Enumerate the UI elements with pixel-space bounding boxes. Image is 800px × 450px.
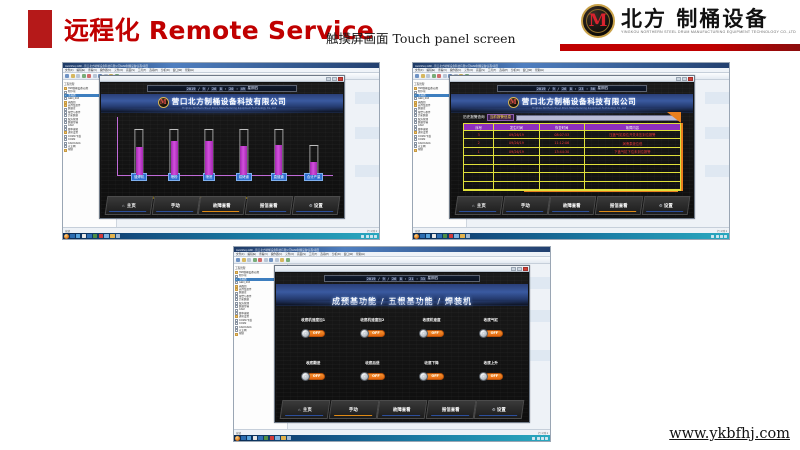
table-row[interactable]: 2 09/26/19 11:12:06 润滑泵液位低 [464, 139, 680, 147]
clock-year: 2019 [186, 87, 197, 91]
clock-day: 26 [561, 87, 567, 91]
nav-button-fault[interactable]: 故障查看 [548, 196, 596, 215]
hmi-window-switches: 2019/ 9/ 26 8: 21: 33 星期四 成预基功能 / 五根基功能 … [274, 265, 530, 423]
cell-index: 2 [464, 139, 494, 146]
taskbar-icon[interactable] [241, 436, 246, 441]
menu-item[interactable]: 窗口(W) [344, 252, 353, 256]
nav-button-home[interactable]: ⌂主页 [104, 196, 152, 215]
pc-title-text: AutoShop HMI - 营口北方制桶设备科技有限公司\HMI制桶设备\远程… [415, 64, 498, 68]
nav-button-alarm[interactable]: 报信查看 [595, 196, 643, 215]
switch-cell: 收底上升 OFF [479, 361, 504, 386]
toolbar-run-icon[interactable] [82, 74, 86, 78]
clock-second: 56 [590, 87, 596, 91]
nav-button-manual[interactable]: 手动 [501, 196, 549, 215]
hmi-logo-letter: M [510, 99, 517, 106]
taskbar-icon[interactable] [275, 436, 280, 441]
clock-month: 9 [202, 87, 206, 91]
pc-status-left: 就绪 [415, 229, 420, 233]
toolbar-copy-icon[interactable] [269, 258, 273, 262]
hmi-screen-title-banner: 成预基功能 / 五根基功能 / 焊装机 [276, 284, 528, 306]
hmi-window-titlebar [275, 266, 529, 272]
close-icon[interactable] [688, 77, 693, 81]
footer-website-url[interactable]: www.ykbfhj.com [669, 426, 790, 442]
clock-weekday: 星期四 [597, 86, 608, 91]
hmi-bottom-nav: ⌂主页 手动 故障查看 报信查看 ⚙设置 [281, 400, 523, 419]
header-divider [560, 44, 800, 51]
gear-icon: ⚙ [308, 203, 312, 208]
toolbar-stop-icon[interactable] [437, 74, 441, 78]
taskbar-tray[interactable] [532, 437, 550, 440]
nav-button-settings[interactable]: ⚙设置 [641, 196, 689, 215]
table-row[interactable]: 3 09/26/19 08:07:53 压盖气缸原位开关未压到位报警 [464, 131, 680, 139]
cell-recover-time: 08:07:53 [540, 131, 585, 138]
table-row[interactable] [464, 165, 680, 173]
close-icon[interactable] [523, 267, 528, 271]
alarm-filter-label: 历史报警查询 [463, 115, 485, 120]
cell-fault-text: 压盖气缸原位开关未压到位报警 [585, 131, 680, 138]
toolbar-undo-icon[interactable] [280, 258, 284, 262]
toggle-knob-icon [301, 372, 310, 381]
menu-item[interactable]: 文件(F) [415, 68, 424, 72]
menu-item[interactable]: 工具(T) [488, 68, 497, 72]
switch-label: 收底翻送 [301, 361, 326, 366]
nav-label: 设置 [664, 203, 673, 209]
nav-label: 手动 [171, 203, 180, 209]
start-button-icon[interactable] [235, 436, 240, 441]
hmi-banner-text: 营口北方制桶设备科技有限公司 Yingkou Northern Steel Dr… [172, 96, 287, 110]
home-icon: ⌂ [472, 203, 474, 208]
nav-label: 故障查看 [213, 203, 231, 209]
hmi-window-titlebar [450, 76, 694, 82]
toggle-knob-icon [479, 372, 488, 381]
taskbar-icon[interactable] [99, 234, 104, 239]
pc-title-text: AutoShop HMI - 营口北方制桶设备科技有限公司\HMI制桶设备\远程… [65, 64, 148, 68]
menu-item[interactable]: 编辑(E) [427, 68, 436, 72]
menu-item[interactable]: 选项(P) [149, 68, 158, 72]
nav-label: 主页 [476, 203, 485, 209]
toolbar-save-icon[interactable] [426, 74, 430, 78]
hmi-bottom-nav: ⌂主页 手动 故障查看 报信查看 ⚙设置 [456, 196, 688, 215]
table-row[interactable] [464, 156, 680, 164]
hmi-logo-icon: M [508, 97, 519, 108]
pc-status-left: 就绪 [236, 431, 241, 435]
minimize-icon[interactable] [676, 77, 681, 81]
nav-button-manual[interactable]: 手动 [151, 196, 199, 215]
nav-button-fault[interactable]: 故障查看 [377, 400, 427, 419]
toolbar-open-icon[interactable] [242, 258, 246, 262]
menu-item[interactable]: 文件(F) [65, 68, 74, 72]
pc-status-right: 行 1 列 1 [538, 431, 548, 435]
hmi-company-banner: M 营口北方制桶设备科技有限公司 Yingkou Northern Steel … [101, 94, 343, 113]
pc-status-right: 行 1 列 1 [367, 229, 377, 233]
toggle-switch[interactable]: OFF [360, 329, 385, 338]
clock-minute: 20 [228, 87, 234, 91]
nav-label: 报信查看 [442, 407, 460, 413]
menu-item[interactable]: 选项(P) [499, 68, 508, 72]
nav-label: 手动 [521, 203, 530, 209]
switch-label: 收底上升 [479, 361, 504, 366]
cell-recover-time: 13:44:30 [540, 148, 585, 155]
gear-icon: ⚙ [658, 203, 662, 208]
menu-item[interactable]: 帮助(H) [535, 68, 544, 72]
menu-item[interactable]: 画面(S) [297, 252, 306, 256]
switch-label: 收底气缸 [479, 318, 504, 323]
hmi-screen: 2019/ 9/ 26 8: 21: 33 星期四 成预基功能 / 五根基功能 … [276, 273, 528, 421]
toolbar-open-icon[interactable] [421, 74, 425, 78]
menu-item[interactable]: 窗口(W) [173, 68, 182, 72]
hmi-clock: 2019/ 9/ 26 8: 23: 56 星期四 [497, 85, 647, 92]
toggle-knob-icon [360, 329, 369, 338]
menu-item[interactable]: 操作器(C) [100, 68, 111, 72]
toolbar-new-icon[interactable] [415, 74, 419, 78]
taskbar-tray[interactable] [711, 235, 729, 238]
toolbar-stop-icon[interactable] [258, 258, 262, 262]
menu-item[interactable]: 操作器(C) [450, 68, 461, 72]
column-header: 序号 [464, 124, 494, 130]
taskbar-icon[interactable] [460, 234, 465, 239]
table-header-row: 序号 发生时间 恢复时间 故障内容 [464, 124, 680, 131]
screenshot-panel-table: AutoShop HMI - 营口北方制桶设备科技有限公司\HMI制桶设备\远程… [412, 62, 730, 240]
screenshot-panel-switches: AutoShop HMI - 营口北方制桶设备科技有限公司\HMI制桶设备\远程… [233, 246, 551, 442]
switch-cell: 收底翻送 OFF [301, 361, 326, 386]
hmi-company-banner: M 营口北方制桶设备科技有限公司 Yingkou Northern Steel … [451, 94, 693, 113]
toolbar-new-icon[interactable] [65, 74, 69, 78]
taskbar-icon[interactable] [443, 234, 448, 239]
logo-emblem-icon: M [581, 4, 615, 38]
taskbar-icon[interactable] [247, 436, 252, 441]
table-horizontal-scrollbar[interactable] [524, 191, 679, 193]
menu-item[interactable]: 文件(F) [236, 252, 245, 256]
clock-weekday: 星期四 [247, 86, 258, 91]
switch-label: 收底机速度加1 [301, 318, 326, 323]
clock-minute: 21 [408, 277, 414, 281]
title-accent-bar [28, 10, 52, 48]
table-row[interactable] [464, 182, 680, 190]
home-icon: ⌂ [298, 407, 300, 412]
nav-label: 故障查看 [563, 203, 581, 209]
hmi-logo-letter: M [160, 99, 167, 106]
menu-item[interactable]: 画面(S) [476, 68, 485, 72]
menu-item[interactable]: 工具(T) [309, 252, 318, 256]
toolbar-redo-icon[interactable] [286, 258, 290, 262]
pc-taskbar[interactable] [413, 233, 729, 239]
maximize-icon[interactable] [517, 267, 522, 271]
switch-label: 收底后退 [360, 361, 385, 366]
logo-emblem-letter: M [589, 13, 608, 30]
toggle-switch[interactable]: OFF [301, 329, 326, 338]
toolbar-stop-icon[interactable] [87, 74, 91, 78]
toggle-state: OFF [425, 330, 444, 337]
toolbar-cut-icon[interactable] [264, 258, 268, 262]
gear-icon: ⚙ [492, 407, 496, 412]
taskbar-icon[interactable] [426, 234, 431, 239]
nav-label: 设置 [498, 407, 507, 413]
alarm-filter-chip[interactable]: 当前报警信息 [487, 114, 515, 121]
menu-item[interactable]: 分析(D) [161, 68, 170, 72]
clock-hour: 8 [569, 87, 573, 91]
menu-item[interactable]: 元件(O) [114, 68, 123, 72]
alarm-history-table: 序号 发生时间 恢复时间 故障内容 3 09/26/19 08:07:53 压盖… [463, 123, 681, 191]
chart-y-axis [117, 117, 118, 175]
alarm-filter-select[interactable] [516, 115, 681, 121]
nav-label: 报信查看 [260, 203, 278, 209]
cell-occur-time: 09/26/19 [494, 131, 539, 138]
tree-item-label: 帮助 [418, 148, 423, 151]
taskbar-icon[interactable] [116, 234, 121, 239]
canvas-side-strip [705, 92, 729, 104]
clock-hour: 8 [399, 277, 403, 281]
toggle-knob-icon [301, 329, 310, 338]
canvas-side-strip [705, 127, 729, 139]
toolbar-cut-icon[interactable] [93, 74, 97, 78]
cell-index: 1 [464, 148, 494, 155]
toggle-knob-icon [479, 329, 488, 338]
menu-item[interactable]: 查看(V) [88, 68, 97, 72]
toggle-switch[interactable]: OFF [479, 372, 504, 381]
cell-index: 3 [464, 131, 494, 138]
toggle-knob-icon [360, 372, 369, 381]
logo-text-group: 北方 制桶设备 YINGKOU NORTHERN STEEL DRUM MANU… [621, 8, 796, 34]
switch-label: 收底机速度 [419, 318, 444, 323]
toggle-switch[interactable]: OFF [301, 372, 326, 381]
table-row[interactable]: 1 09/26/19 13:44:30 下盖气缸下位未到位报警 [464, 148, 680, 156]
maximize-icon[interactable] [332, 77, 337, 81]
toolbar-save-icon[interactable] [76, 74, 80, 78]
alarm-filter-row: 历史报警查询 当前报警信息 [463, 114, 681, 121]
toolbar-run-icon[interactable] [432, 74, 436, 78]
chart-category-labels: 缝焊机 喷粉 喷底 烘烤道 直缝道 合计产量 [122, 165, 331, 183]
production-bar-chart: 缝焊机 喷粉 喷底 烘烤道 直缝道 合计产量 [111, 115, 334, 191]
nav-label: 报信查看 [610, 203, 628, 209]
menu-item[interactable]: 帮助(H) [356, 252, 365, 256]
nav-label: 故障查看 [393, 407, 411, 413]
switch-label: 收底机速度加2 [360, 318, 385, 323]
clock-year: 2019 [366, 277, 377, 281]
maximize-icon[interactable] [682, 77, 687, 81]
table-row[interactable] [464, 173, 680, 181]
menu-item[interactable]: 操作器(C) [271, 252, 282, 256]
table-vertical-scrollbar[interactable] [681, 123, 683, 191]
pc-taskbar[interactable] [63, 233, 379, 239]
taskbar-icon[interactable] [437, 234, 442, 239]
switch-cell: 收底机速度 OFF [419, 318, 444, 343]
home-icon: ⌂ [122, 203, 124, 208]
clock-year: 2019 [536, 87, 547, 91]
clock-month: 9 [382, 277, 386, 281]
corner-marker-icon [667, 112, 681, 123]
switch-cell: 收底机速度加1 OFF [301, 318, 326, 343]
taskbar-icon[interactable] [270, 436, 275, 441]
nav-button-settings[interactable]: ⚙设置 [474, 400, 524, 419]
menu-item[interactable]: 帮助(H) [185, 68, 194, 72]
clock-minute: 23 [578, 87, 584, 91]
canvas-side-strip [355, 127, 379, 139]
nav-button-fault[interactable]: 故障查看 [198, 196, 246, 215]
menu-item[interactable]: 选项(P) [320, 252, 329, 256]
screen-title: 成预基功能 / 五根基功能 / 焊装机 [276, 296, 528, 307]
cell-fault-text: 润滑泵液位低 [585, 139, 680, 146]
taskbar-icon[interactable] [87, 234, 92, 239]
nav-button-manual[interactable]: 手动 [328, 400, 378, 419]
pc-status-right: 行 1 列 1 [717, 229, 727, 233]
hmi-screen: 2019/ 9/ 26 8: 23: 56 星期四 M 营口北方制桶设备科技有限… [451, 83, 693, 217]
taskbar-icon[interactable] [253, 436, 258, 441]
taskbar-icon[interactable] [454, 234, 459, 239]
clock-day: 26 [391, 277, 397, 281]
pc-taskbar[interactable] [234, 435, 550, 441]
clock-hour: 8 [219, 87, 223, 91]
column-header: 故障内容 [585, 124, 680, 130]
menu-item[interactable]: 元件(O) [285, 252, 294, 256]
toolbar-run-icon[interactable] [253, 258, 257, 262]
toggle-state: OFF [425, 373, 444, 380]
taskbar-icon[interactable] [449, 234, 454, 239]
toggle-switch[interactable]: OFF [419, 329, 444, 338]
manual-switch-grid: 收底机速度加1 OFF 收底机速度加2 OFF 收底机速度 OFF 收底气缸 O… [284, 309, 521, 395]
clock-second: 49 [240, 87, 246, 91]
taskbar-tray[interactable] [361, 235, 379, 238]
hmi-banner-cn: 营口北方制桶设备科技有限公司 [522, 96, 637, 107]
cell-occur-time: 09/26/19 [494, 148, 539, 155]
pc-status-left: 就绪 [65, 229, 70, 233]
canvas-side-strip [705, 165, 729, 177]
pc-toolbar[interactable] [234, 257, 550, 264]
taskbar-icon[interactable] [287, 436, 292, 441]
taskbar-icon[interactable] [104, 234, 109, 239]
column-header: 发生时间 [494, 124, 539, 130]
taskbar-icon[interactable] [432, 234, 437, 239]
toolbar-new-icon[interactable] [236, 258, 240, 262]
menu-item[interactable]: 分析(D) [332, 252, 341, 256]
toggle-switch[interactable]: OFF [360, 372, 385, 381]
slide-title-block: 远程化 Remote Service [28, 10, 374, 48]
taskbar-icon[interactable] [420, 234, 425, 239]
slide-root: 远程化 Remote Service 触摸屏画面 Touch panel scr… [0, 0, 800, 450]
menu-item[interactable]: 窗口(W) [523, 68, 532, 72]
hmi-banner-text: 营口北方制桶设备科技有限公司 Yingkou Northern Steel Dr… [522, 96, 637, 110]
logo-company-en: YINGKOU NORTHERN STEEL DRUM MANUFACTURIN… [621, 30, 796, 34]
cell-fault-text: 下盖气缸下位未到位报警 [585, 148, 680, 155]
company-logo: M 北方 制桶设备 YINGKOU NORTHERN STEEL DRUM MA… [581, 4, 796, 38]
menu-item[interactable]: 元件(O) [464, 68, 473, 72]
tree-item-label: 帮助 [239, 332, 244, 335]
tree-item-label: 帮助 [68, 148, 73, 151]
nav-button-alarm[interactable]: 报信查看 [245, 196, 293, 215]
switch-label: 收底下降 [419, 361, 444, 366]
nav-button-settings[interactable]: ⚙设置 [291, 196, 339, 215]
clock-weekday: 星期四 [427, 276, 438, 281]
hmi-clock: 2019/ 9/ 26 8: 20: 49 星期四 [147, 85, 297, 92]
taskbar-icon[interactable] [264, 436, 269, 441]
page-subtitle: 触摸屏画面 Touch panel screen [326, 28, 516, 47]
clock-day: 26 [211, 87, 217, 91]
hmi-clock: 2019/ 9/ 26 8: 21: 33 星期四 [324, 275, 480, 282]
canvas-side-strip [355, 165, 379, 177]
hmi-banner-cn: 营口北方制桶设备科技有限公司 [172, 96, 287, 107]
switch-cell: 收底气缸 OFF [479, 318, 504, 343]
menu-item[interactable]: 画面(S) [126, 68, 135, 72]
hmi-bottom-nav: ⌂主页 手动 故障查看 报信查看 ⚙设置 [106, 196, 338, 215]
toggle-switch[interactable]: OFF [479, 329, 504, 338]
hmi-window-table: 2019/ 9/ 26 8: 23: 56 星期四 M 营口北方制桶设备科技有限… [449, 75, 695, 219]
taskbar-icon[interactable] [258, 436, 263, 441]
menu-item[interactable]: 分析(D) [511, 68, 520, 72]
hmi-window-titlebar [100, 76, 344, 82]
nav-button-alarm[interactable]: 报信查看 [425, 400, 475, 419]
hmi-banner-en: Yingkou Northern Steel Drum Manufacturin… [522, 107, 637, 110]
taskbar-icon[interactable] [76, 234, 81, 239]
column-header: 恢复时间 [540, 124, 585, 130]
nav-button-home[interactable]: ⌂主页 [280, 400, 330, 419]
logo-company-cn: 北方 制桶设备 [621, 8, 796, 30]
toolbar-save-icon[interactable] [247, 258, 251, 262]
taskbar-icon[interactable] [93, 234, 98, 239]
nav-label: 主页 [126, 203, 135, 209]
taskbar-icon[interactable] [466, 234, 471, 239]
minimize-icon[interactable] [326, 77, 331, 81]
switch-cell: 收底机速度加2 OFF [360, 318, 385, 343]
start-button-icon[interactable] [64, 234, 69, 239]
hmi-screen: 2019/ 9/ 26 8: 20: 49 星期四 M 营口北方制桶设备科技有限… [101, 83, 343, 217]
toggle-switch[interactable]: OFF [419, 372, 444, 381]
menu-item[interactable]: 编辑(E) [77, 68, 86, 72]
hmi-logo-icon: M [158, 97, 169, 108]
taskbar-icon[interactable] [70, 234, 75, 239]
hmi-window-chart: 2019/ 9/ 26 8: 20: 49 星期四 M 营口北方制桶设备科技有限… [99, 75, 345, 219]
toolbar-paste-icon[interactable] [275, 258, 279, 262]
menu-item[interactable]: 工具(T) [138, 68, 147, 72]
pc-title-text: AutoShop HMI - 营口北方制桶设备科技有限公司\HMI制桶设备\远程… [236, 248, 319, 252]
taskbar-icon[interactable] [281, 436, 286, 441]
taskbar-icon[interactable] [82, 234, 87, 239]
start-button-icon[interactable] [414, 234, 419, 239]
canvas-side-strip [355, 92, 379, 104]
cell-occur-time: 09/26/19 [494, 139, 539, 146]
toolbar-cut-icon[interactable] [443, 74, 447, 78]
cell-recover-time: 11:12:06 [540, 139, 585, 146]
hmi-banner-en: Yingkou Northern Steel Drum Manufacturin… [172, 107, 287, 110]
toolbar-open-icon[interactable] [71, 74, 75, 78]
nav-button-home[interactable]: ⌂主页 [454, 196, 502, 215]
clock-month: 9 [552, 87, 556, 91]
taskbar-icon[interactable] [110, 234, 115, 239]
switch-cell: 收底后退 OFF [360, 361, 385, 386]
clock-second: 33 [420, 277, 426, 281]
menu-item[interactable]: 查看(V) [259, 252, 268, 256]
close-icon[interactable] [338, 77, 343, 81]
screenshot-panel-chart: AutoShop HMI - 营口北方制桶设备科技有限公司\HMI制桶设备\远程… [62, 62, 380, 240]
nav-label: 手动 [349, 407, 358, 413]
menu-item[interactable]: 编辑(E) [248, 252, 257, 256]
nav-label: 主页 [303, 407, 312, 413]
nav-label: 设置 [314, 203, 323, 209]
minimize-icon[interactable] [511, 267, 516, 271]
switch-cell: 收底下降 OFF [419, 361, 444, 386]
menu-item[interactable]: 查看(V) [438, 68, 447, 72]
